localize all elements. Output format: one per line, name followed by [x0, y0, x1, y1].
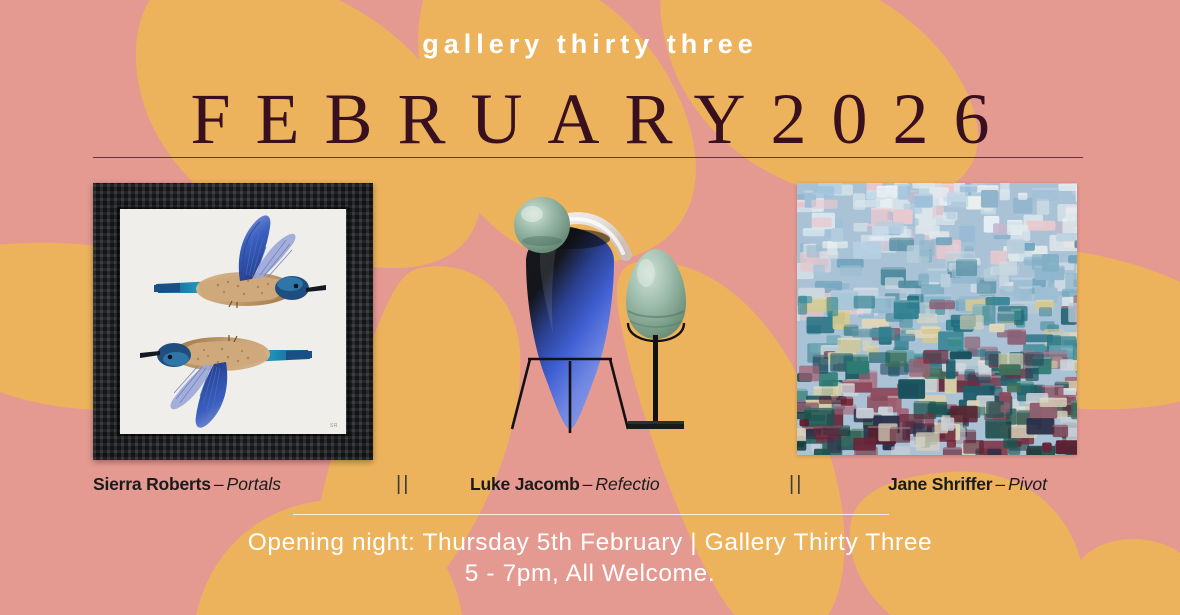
credit-dash: –	[211, 474, 227, 494]
gallery-name: gallery thirty three	[0, 29, 1180, 60]
event-details: Opening night: Thursday 5th February | G…	[0, 527, 1180, 589]
egg-pedestal	[628, 323, 684, 429]
artist-name: Jane Shriffer	[888, 474, 992, 494]
vessel-tripod-stand	[512, 359, 628, 433]
abstract-impasto-canvas	[797, 183, 1077, 455]
event-details-line-2: 5 - 7pm, All Welcome.	[0, 558, 1180, 589]
credit-dash: –	[992, 474, 1008, 494]
artwork-row: SR	[0, 183, 1180, 463]
exhibition-poster: gallery thirty three FEBRUARY2026	[0, 0, 1180, 615]
page-title: FEBRUARY2026	[0, 82, 1180, 156]
credit-dash: –	[580, 474, 596, 494]
credit-separator: ||	[396, 473, 410, 496]
artist-name: Sierra Roberts	[93, 474, 211, 494]
glass-vessel-sculpture	[450, 183, 730, 460]
credit-line: Jane Shriffer–Pivot	[888, 474, 1047, 495]
abstract-brushstroke-field	[797, 183, 1077, 455]
artwork-title: Pivot	[1008, 474, 1047, 494]
artwork-credits: Sierra Roberts–Portals || Luke Jacomb–Re…	[0, 474, 1180, 500]
print-signature: SR	[330, 423, 338, 429]
print-mat: SR	[120, 209, 346, 434]
artwork-abstract-painting[interactable]	[797, 183, 1077, 455]
artwork-glass-sculpture[interactable]	[450, 183, 730, 460]
artist-name: Luke Jacomb	[470, 474, 580, 494]
kingfisher-pair-illustration	[120, 209, 346, 434]
footer-divider-rule	[293, 514, 889, 515]
artwork-title: Portals	[227, 474, 281, 494]
credit-line: Sierra Roberts–Portals	[93, 474, 281, 495]
green-egg	[626, 249, 686, 339]
artwork-title: Refectio	[595, 474, 659, 494]
title-divider-rule	[93, 157, 1083, 158]
artwork-framed-bird-print[interactable]: SR	[93, 183, 373, 460]
event-details-line-1: Opening night: Thursday 5th February | G…	[0, 527, 1180, 558]
credit-separator: ||	[789, 473, 803, 496]
ornate-black-frame: SR	[93, 183, 373, 460]
credit-line: Luke Jacomb–Refectio	[470, 474, 660, 495]
